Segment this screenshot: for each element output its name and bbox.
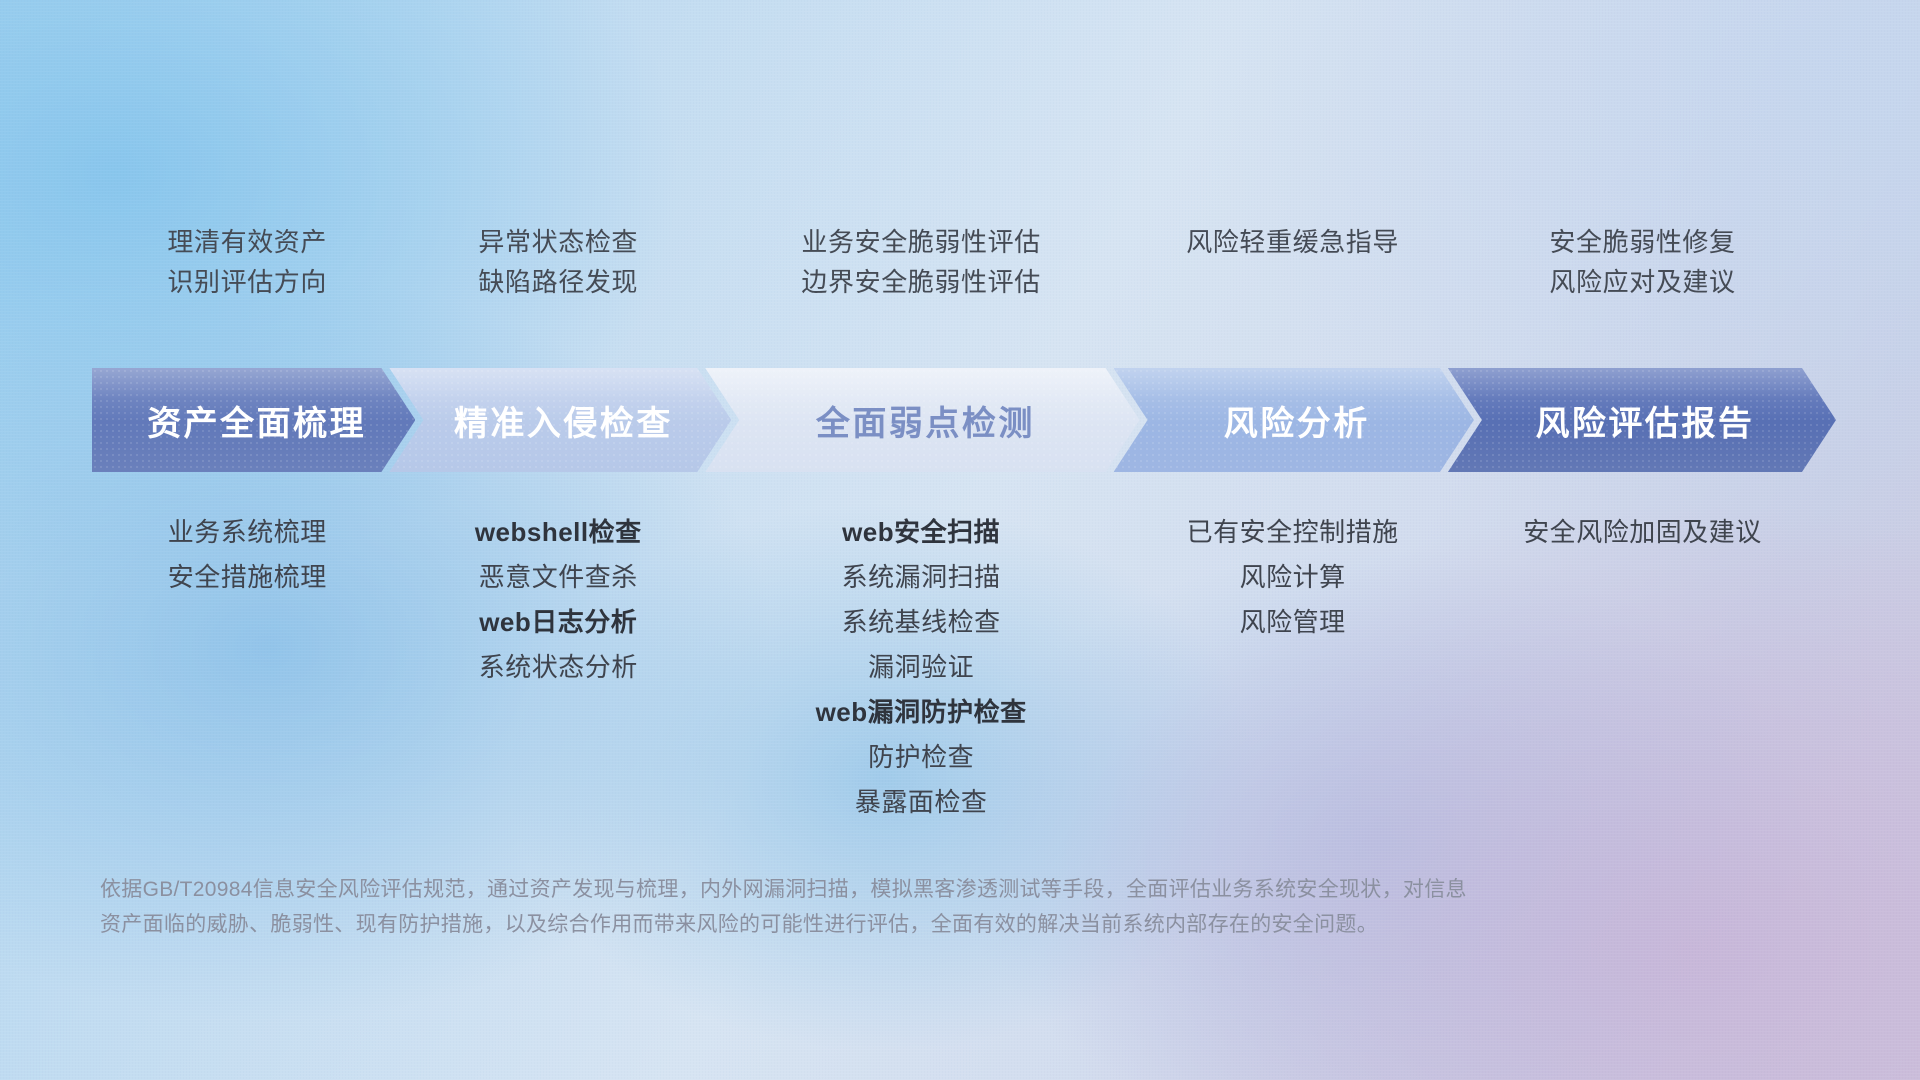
process-chevron-band: 资产全面梳理精准入侵检查全面弱点检测风险分析风险评估报告 <box>92 368 1836 472</box>
list-item: 风险管理 <box>1124 600 1461 645</box>
chevron-stage-intrusion-check[interactable]: 精准入侵检查 <box>389 368 731 472</box>
chevron-label-weakness-detection: 全面弱点检测 <box>810 396 1035 445</box>
top-caption-line: 识别评估方向 <box>96 262 398 302</box>
list-item: 风险计算 <box>1124 555 1461 600</box>
list-item: 系统基线检查 <box>718 600 1124 645</box>
list-item: 已有安全控制措施 <box>1124 510 1461 555</box>
top-caption-line: 缺陷路径发现 <box>398 262 718 302</box>
list-item: 防护检查 <box>718 735 1124 780</box>
list-item: 恶意文件查杀 <box>398 555 718 600</box>
list-item: 安全措施梳理 <box>96 555 398 600</box>
top-caption-line: 安全脆弱性修复 <box>1461 222 1824 262</box>
top-caption-col-risk-analysis: 风险轻重缓急指导 <box>1124 222 1461 303</box>
footer-line-1: 依据GB/T20984信息安全风险评估规范，通过资产发现与梳理，内外网漏洞扫描，… <box>100 872 1824 907</box>
chevron-label-risk-report: 风险评估报告 <box>1529 396 1754 445</box>
chevron-label-asset-inventory: 资产全面梳理 <box>141 396 366 445</box>
top-caption-line: 风险轻重缓急指导 <box>1124 222 1461 262</box>
chevron-stage-risk-analysis[interactable]: 风险分析 <box>1114 368 1474 472</box>
chevron-label-intrusion-check: 精准入侵检查 <box>448 396 673 445</box>
list-item: webshell检查 <box>398 510 718 555</box>
list-item: web漏洞防护检查 <box>718 690 1124 735</box>
top-caption-col-asset-inventory: 理清有效资产识别评估方向 <box>96 222 398 303</box>
list-item: 漏洞验证 <box>718 645 1124 690</box>
top-captions-row: 理清有效资产识别评估方向异常状态检查缺陷路径发现业务安全脆弱性评估边界安全脆弱性… <box>96 222 1824 303</box>
detail-list-risk-analysis: 已有安全控制措施风险计算风险管理 <box>1124 510 1461 645</box>
list-item: web日志分析 <box>398 600 718 645</box>
list-item: 安全风险加固及建议 <box>1461 510 1824 555</box>
top-caption-col-intrusion-check: 异常状态检查缺陷路径发现 <box>398 222 718 303</box>
detail-list-asset-inventory: 业务系统梳理安全措施梳理 <box>96 510 398 600</box>
list-item: 暴露面检查 <box>718 780 1124 825</box>
list-item: 业务系统梳理 <box>96 510 398 555</box>
chevron-stage-weakness-detection[interactable]: 全面弱点检测 <box>705 368 1139 472</box>
top-caption-line: 业务安全脆弱性评估 <box>718 222 1124 262</box>
list-item: 系统漏洞扫描 <box>718 555 1124 600</box>
chevron-label-risk-analysis: 风险分析 <box>1218 396 1370 445</box>
footer-line-2: 资产面临的威胁、脆弱性、现有防护措施，以及综合作用而带来风险的可能性进行评估，全… <box>100 907 1824 942</box>
footer-description: 依据GB/T20984信息安全风险评估规范，通过资产发现与梳理，内外网漏洞扫描，… <box>100 872 1824 943</box>
top-caption-col-risk-report: 安全脆弱性修复风险应对及建议 <box>1461 222 1824 303</box>
detail-list-weakness-detection: web安全扫描系统漏洞扫描系统基线检查漏洞验证web漏洞防护检查防护检查暴露面检… <box>718 510 1124 826</box>
top-caption-line: 风险应对及建议 <box>1461 262 1824 302</box>
detail-list-risk-report: 安全风险加固及建议 <box>1461 510 1824 555</box>
list-item: web安全扫描 <box>718 510 1124 555</box>
list-item: 系统状态分析 <box>398 645 718 690</box>
top-caption-line: 异常状态检查 <box>398 222 718 262</box>
chevron-stage-asset-inventory[interactable]: 资产全面梳理 <box>92 368 415 472</box>
top-caption-line: 边界安全脆弱性评估 <box>718 262 1124 302</box>
detail-list-intrusion-check: webshell检查恶意文件查杀web日志分析系统状态分析 <box>398 510 718 690</box>
bottom-detail-lists: 业务系统梳理安全措施梳理webshell检查恶意文件查杀web日志分析系统状态分… <box>96 510 1824 826</box>
top-caption-col-weakness-detection: 业务安全脆弱性评估边界安全脆弱性评估 <box>718 222 1124 303</box>
diagram-content: 理清有效资产识别评估方向异常状态检查缺陷路径发现业务安全脆弱性评估边界安全脆弱性… <box>0 0 1920 1080</box>
top-caption-line: 理清有效资产 <box>96 222 398 262</box>
chevron-stage-risk-report[interactable]: 风险评估报告 <box>1448 368 1836 472</box>
